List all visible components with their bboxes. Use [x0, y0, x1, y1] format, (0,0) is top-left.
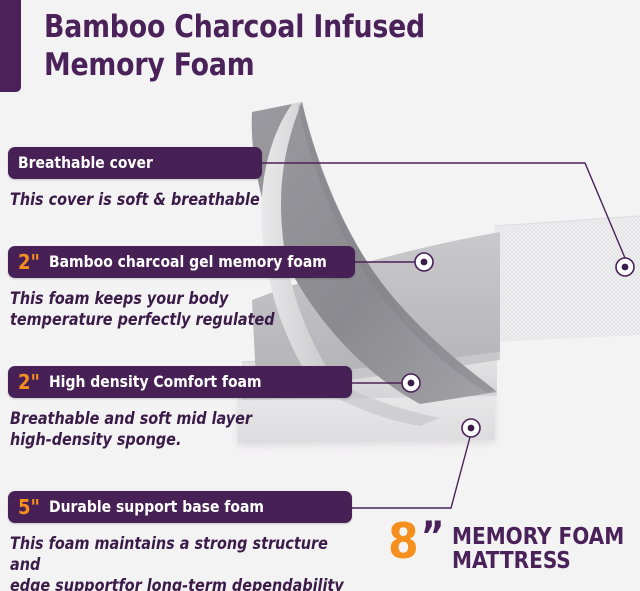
product-thickness-unit: ” — [421, 520, 445, 554]
page-title: Bamboo Charcoal Infused Memory Foam — [44, 8, 495, 84]
description-memory-foam: This foam keeps your body temperature pe… — [10, 288, 301, 330]
connector-dot-base-foam — [462, 419, 480, 437]
description-comfort-foam: Breathable and soft mid layer high-densi… — [10, 408, 301, 450]
badge-base-foam[interactable]: 5" Durable support base foam — [8, 491, 352, 523]
badge-thickness-memory-foam: 2" — [18, 252, 40, 272]
page-title-line-2: Memory Foam — [44, 46, 495, 84]
connector-dot-comfort-foam — [402, 374, 420, 392]
badge-label-breathable-cover: Breathable cover — [18, 155, 153, 171]
description-breathable-cover: This cover is soft & breathable — [10, 189, 301, 210]
badge-label-comfort-foam: High density Comfort foam — [49, 374, 262, 390]
page-title-line-1: Bamboo Charcoal Infused — [44, 8, 495, 46]
connector-base-foam — [352, 437, 470, 508]
connector-dot-breathable-cover — [616, 258, 634, 276]
title-accent-bar — [0, 0, 21, 92]
badge-comfort-foam[interactable]: 2" High density Comfort foam — [8, 366, 352, 398]
mattress-side-panel — [495, 216, 640, 342]
badge-label-base-foam: Durable support base foam — [49, 499, 264, 515]
product-callout: 8 ” MEMORY FOAM MATTRESS — [388, 520, 630, 573]
badge-label-memory-foam: Bamboo charcoal gel memory foam — [49, 254, 327, 270]
product-thickness-number: 8 — [388, 520, 418, 564]
product-name: MEMORY FOAM MATTRESS — [452, 520, 624, 573]
connector-dot-memory-foam — [415, 253, 433, 271]
product-name-line-1: MEMORY FOAM — [452, 525, 624, 549]
badge-thickness-comfort-foam: 2" — [18, 372, 40, 392]
infographic-canvas: Bamboo Charcoal Infused Memory Foam — [0, 0, 640, 591]
product-name-line-2: MATTRESS — [452, 549, 624, 573]
connector-breathable-cover — [262, 163, 625, 258]
badge-memory-foam[interactable]: 2" Bamboo charcoal gel memory foam — [8, 246, 355, 278]
description-base-foam: This foam maintains a strong structure a… — [10, 533, 359, 591]
badge-breathable-cover[interactable]: Breathable cover — [8, 147, 262, 179]
badge-thickness-base-foam: 5" — [18, 497, 40, 517]
